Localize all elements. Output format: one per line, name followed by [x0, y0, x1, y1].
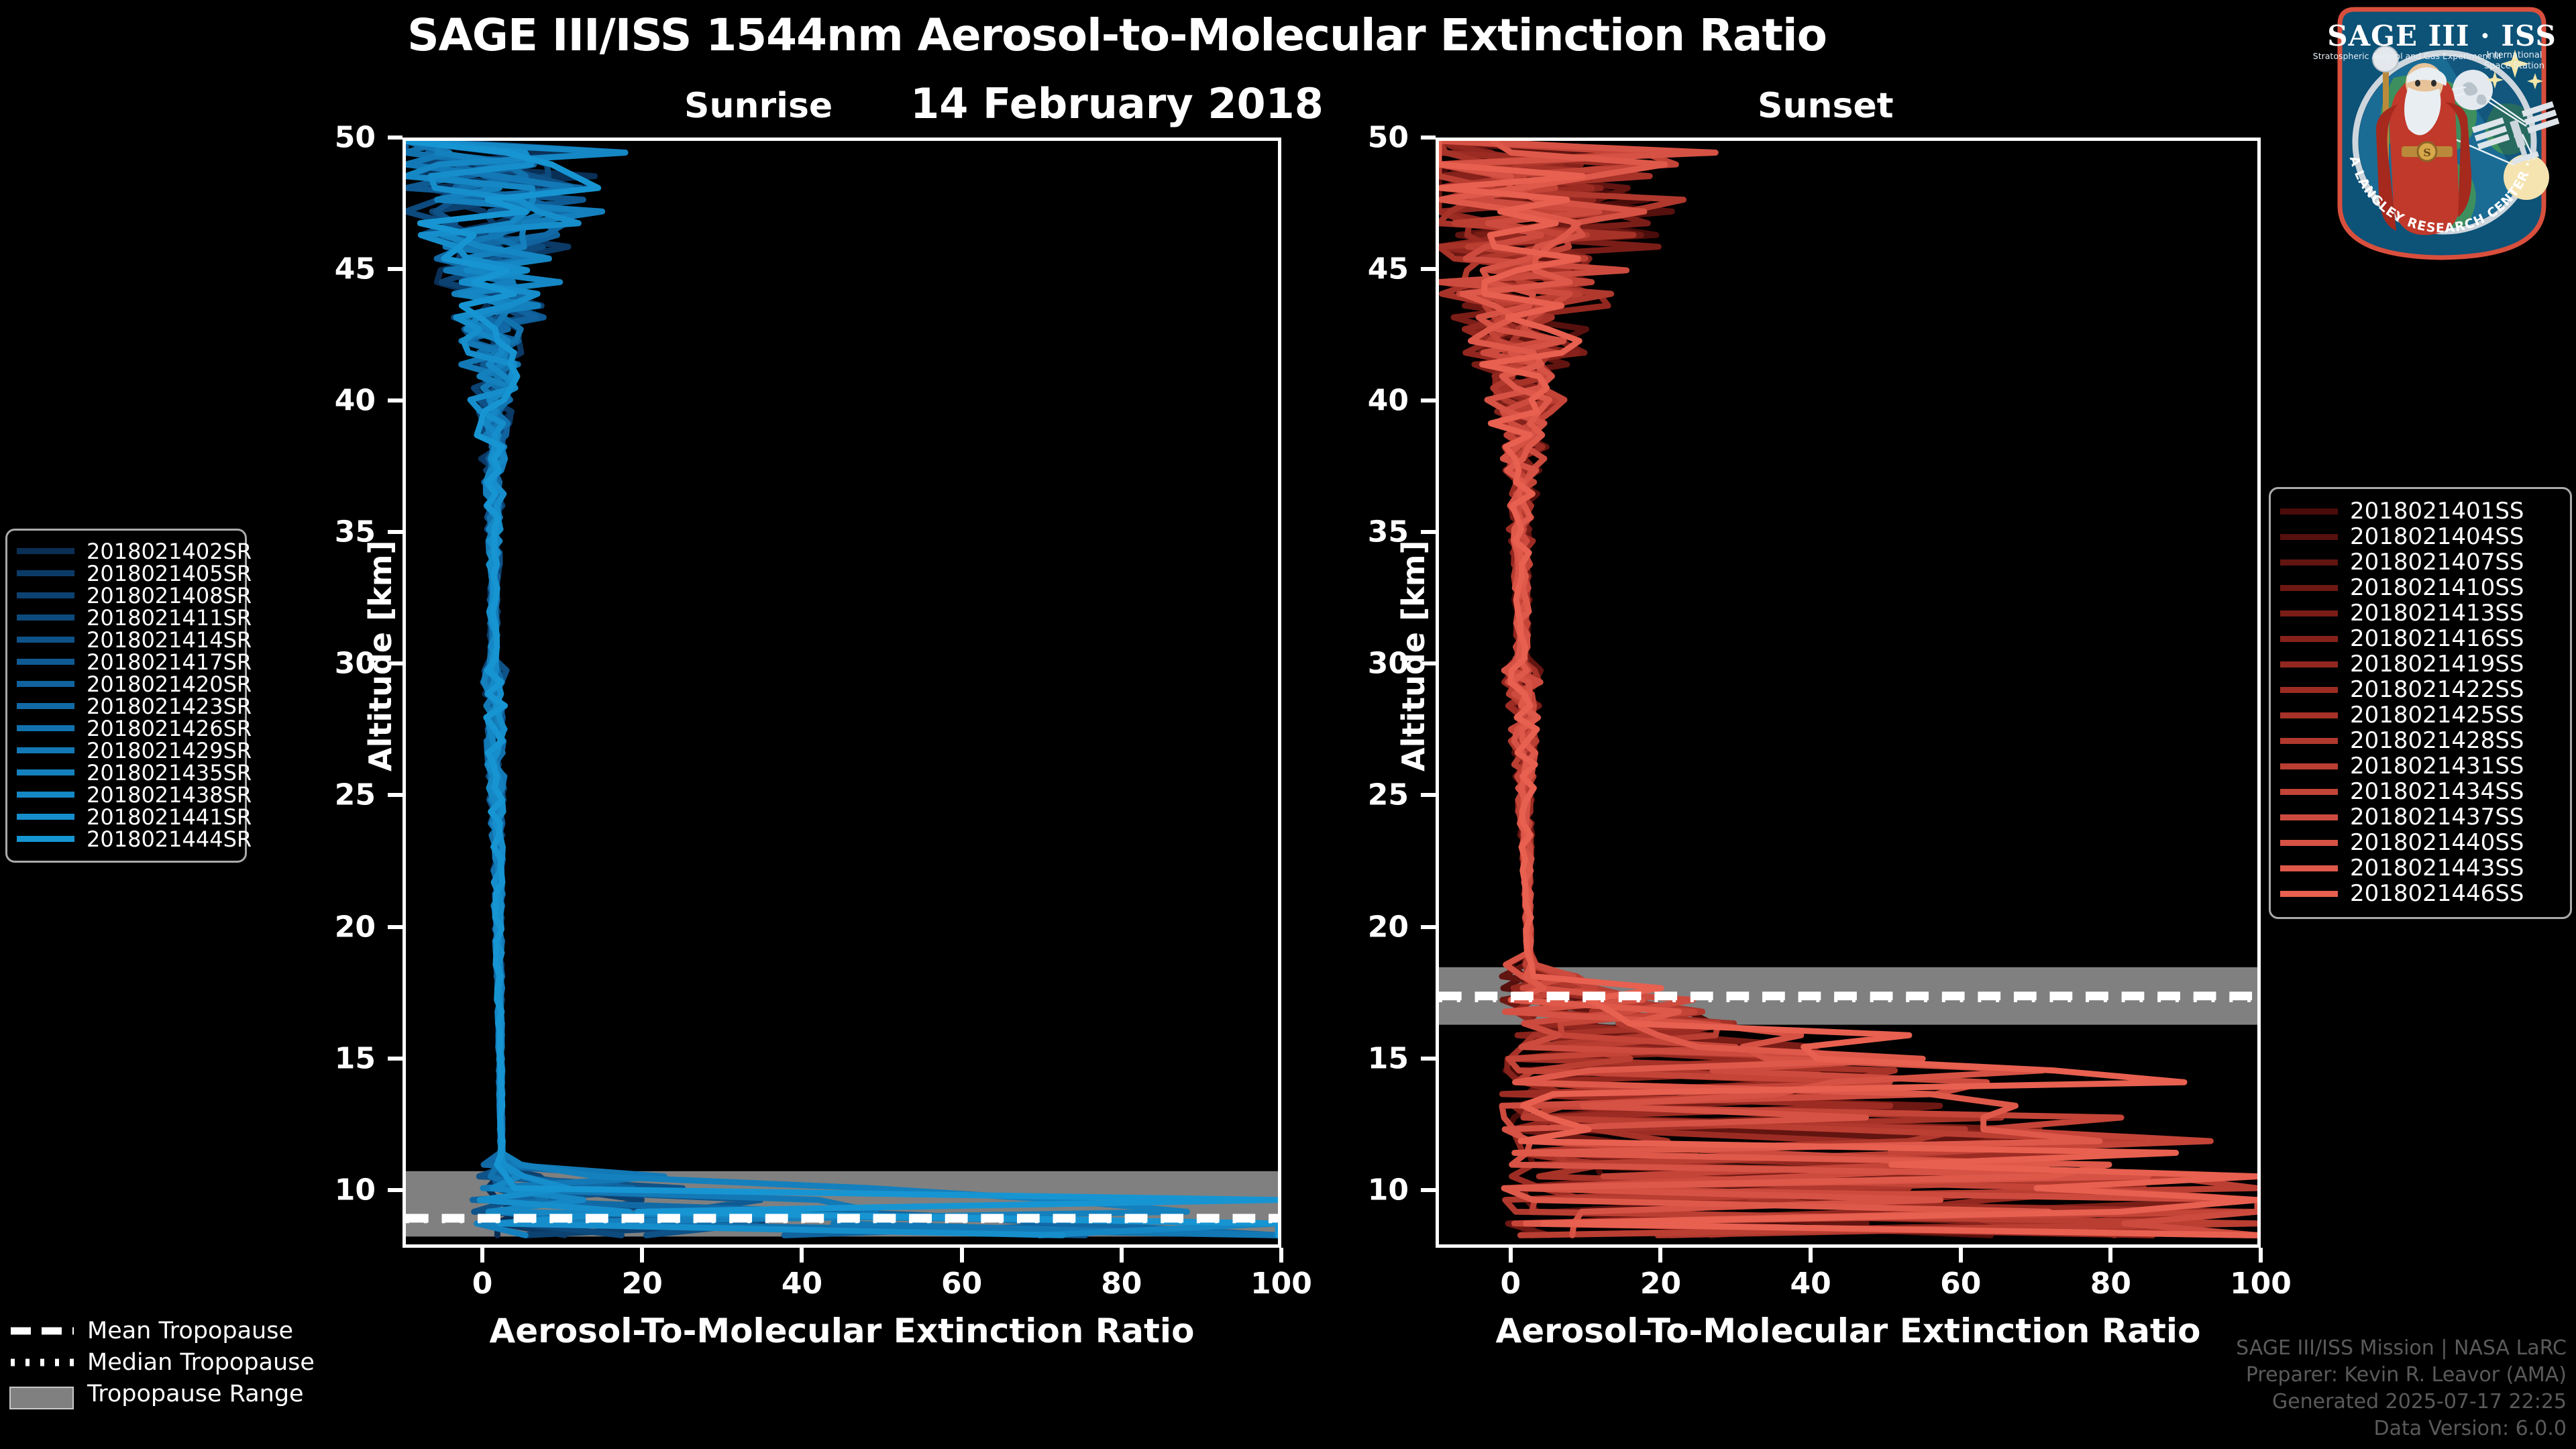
- legend-item-2018021402sr[interactable]: 2018021402SR: [17, 540, 234, 562]
- x-tick-label-sunset-80: 80: [2057, 1267, 2164, 1301]
- x-tick-label-sunrise-80: 80: [1068, 1267, 1175, 1301]
- legend-item-2018021401ss[interactable]: 2018021401SS: [2280, 498, 2559, 524]
- legend-color-swatch: [2280, 610, 2338, 616]
- y-tick-label-sunrise-35: 35: [295, 515, 376, 549]
- legend-color-swatch: [2280, 508, 2338, 515]
- x-tick-mark: [1279, 1248, 1283, 1263]
- patch-subtitle-left: Stratospheric Aerosol and Gas Experiment…: [2313, 51, 2501, 61]
- legend-color-swatch: [2280, 891, 2338, 897]
- legend-color-swatch: [17, 747, 74, 753]
- y-tick-label-sunset-20: 20: [1328, 910, 1409, 944]
- y-tick-mark: [1421, 793, 1436, 797]
- legend-label: 2018021422SS: [2350, 676, 2524, 703]
- y-tick-label-sunrise-30: 30: [295, 647, 376, 681]
- legend-label: 2018021443SS: [2350, 855, 2524, 881]
- x-tick-mark: [960, 1248, 964, 1263]
- legend-color-swatch: [17, 548, 74, 554]
- x-tick-label-sunset-100: 100: [2207, 1267, 2314, 1301]
- y-tick-label-sunset-35: 35: [1328, 515, 1409, 549]
- y-tick-mark: [1421, 530, 1436, 534]
- legend-label-tropopause-range: Tropopause Range: [87, 1381, 304, 1407]
- y-tick-label-sunset-45: 45: [1328, 252, 1409, 286]
- x-tick-mark: [2108, 1248, 2112, 1263]
- legend-item-2018021435sr[interactable]: 2018021435SR: [17, 761, 234, 784]
- patch-subtitle-right-1: International: [2487, 50, 2542, 60]
- y-tick-label-sunrise-40: 40: [295, 384, 376, 418]
- x-tick-mark: [1120, 1248, 1124, 1263]
- x-tick-label-sunrise-20: 20: [588, 1267, 696, 1301]
- legend-sunrise: 2018021402SR2018021405SR2018021408SR2018…: [5, 529, 247, 863]
- page-title: SAGE III/ISS 1544nm Aerosol-to-Molecular…: [0, 9, 2234, 61]
- x-tick-mark: [640, 1248, 644, 1263]
- plot-area-sunset: [1436, 138, 2261, 1248]
- x-tick-label-sunset-60: 60: [1907, 1267, 2015, 1301]
- legend-color-swatch: [17, 725, 74, 731]
- legend-color-swatch: [17, 836, 74, 842]
- y-tick-mark: [1421, 661, 1436, 665]
- legend-color-swatch: [17, 814, 74, 820]
- legend-item-2018021416ss[interactable]: 2018021416SS: [2280, 626, 2559, 651]
- y-tick-label-sunset-15: 15: [1328, 1041, 1409, 1075]
- legend-label: 2018021413SS: [2350, 600, 2524, 627]
- legend-row-median-tropopause: Median Tropopause: [9, 1346, 318, 1378]
- legend-color-swatch: [2280, 789, 2338, 795]
- legend-label: 2018021419SS: [2350, 651, 2524, 678]
- legend-label: 2018021428SS: [2350, 727, 2524, 754]
- x-tick-label-sunrise-60: 60: [908, 1267, 1016, 1301]
- legend-color-swatch: [2280, 636, 2338, 642]
- y-tick-label-sunrise-15: 15: [295, 1041, 376, 1075]
- legend-color-swatch: [2280, 661, 2338, 667]
- legend-item-2018021414sr[interactable]: 2018021414SR: [17, 629, 234, 651]
- y-tick-mark: [388, 136, 402, 140]
- footer-credits: SAGE III/ISS Mission | NASA LaRC Prepare…: [2236, 1335, 2567, 1442]
- dotted-line-icon: [9, 1355, 75, 1370]
- y-tick-label-sunrise-45: 45: [295, 252, 376, 286]
- footer-data-version: Data Version: 6.0.0: [2236, 1415, 2567, 1442]
- y-tick-label-sunrise-10: 10: [295, 1173, 376, 1207]
- legend-item-2018021441sr[interactable]: 2018021441SR: [17, 806, 234, 828]
- x-tick-mark: [2259, 1248, 2263, 1263]
- sage-iii-iss-mission-patch: S SAGE III · ISS Stratospheric Aerosol a…: [2313, 4, 2571, 262]
- legend-label: 2018021416SS: [2350, 625, 2524, 652]
- y-tick-mark: [388, 267, 402, 271]
- profile-line-2018021435sr: [437, 141, 1187, 1235]
- legend-color-swatch: [2280, 712, 2338, 718]
- y-tick-mark: [1421, 267, 1436, 271]
- legend-sunset: 2018021401SS2018021404SS2018021407SS2018…: [2269, 487, 2572, 919]
- legend-color-swatch: [17, 792, 74, 798]
- y-tick-label-sunset-25: 25: [1328, 778, 1409, 812]
- legend-item-2018021437ss[interactable]: 2018021437SS: [2280, 804, 2559, 830]
- legend-tropopause: Mean Tropopause Median Tropopause Tropop…: [9, 1315, 318, 1409]
- y-tick-label-sunset-10: 10: [1328, 1173, 1409, 1207]
- legend-item-2018021446ss[interactable]: 2018021446SS: [2280, 881, 2559, 906]
- footer-generated: Generated 2025-07-17 22:25: [2236, 1389, 2567, 1415]
- legend-item-2018021410ss[interactable]: 2018021410SS: [2280, 575, 2559, 600]
- x-tick-label-sunset-40: 40: [1757, 1267, 1864, 1301]
- legend-label-mean-tropopause: Mean Tropopause: [87, 1318, 293, 1344]
- x-tick-label-sunset-0: 0: [1457, 1267, 1564, 1301]
- legend-label: 2018021437SS: [2350, 804, 2524, 830]
- legend-color-swatch: [17, 769, 74, 775]
- legend-color-swatch: [2280, 687, 2338, 693]
- legend-color-swatch: [17, 681, 74, 687]
- legend-color-swatch: [2280, 534, 2338, 540]
- legend-label: 2018021425SS: [2350, 702, 2524, 729]
- legend-color-swatch: [17, 703, 74, 709]
- y-tick-mark: [1421, 398, 1436, 402]
- patch-subtitle-right-2: Space Station: [2484, 61, 2544, 71]
- legend-row-mean-tropopause: Mean Tropopause: [9, 1315, 318, 1346]
- y-tick-mark: [388, 398, 402, 402]
- x-tick-mark: [1809, 1248, 1813, 1263]
- legend-item-2018021408sr[interactable]: 2018021408SR: [17, 584, 234, 606]
- y-tick-mark: [1421, 1188, 1436, 1192]
- legend-item-2018021428ss[interactable]: 2018021428SS: [2280, 728, 2559, 753]
- y-tick-label-sunrise-20: 20: [295, 910, 376, 944]
- y-tick-mark: [388, 1057, 402, 1061]
- legend-item-2018021431ss[interactable]: 2018021431SS: [2280, 753, 2559, 779]
- y-tick-label-sunset-30: 30: [1328, 647, 1409, 681]
- y-tick-label-sunrise-50: 50: [295, 121, 376, 155]
- x-tick-label-sunrise-40: 40: [748, 1267, 855, 1301]
- dashed-line-icon: [9, 1324, 75, 1338]
- x-tick-mark: [1959, 1248, 1963, 1263]
- legend-item-2018021429sr[interactable]: 2018021429SR: [17, 739, 234, 761]
- profile-canvas-sunrise: [406, 141, 1278, 1244]
- legend-label: 2018021444SR: [87, 826, 252, 852]
- legend-item-2018021423sr[interactable]: 2018021423SR: [17, 695, 234, 717]
- legend-item-2018021426sr[interactable]: 2018021426SR: [17, 717, 234, 739]
- x-tick-label-sunrise-100: 100: [1228, 1267, 1335, 1301]
- legend-item-2018021444sr[interactable]: 2018021444SR: [17, 828, 234, 850]
- legend-color-swatch: [2280, 585, 2338, 591]
- panel-label-sunrise: Sunrise: [684, 86, 833, 126]
- svg-text:SAGE III · ISS: SAGE III · ISS: [2327, 19, 2557, 52]
- legend-item-2018021404ss[interactable]: 2018021404SS: [2280, 524, 2559, 549]
- legend-label: 2018021401SS: [2350, 498, 2524, 525]
- y-tick-label-sunset-50: 50: [1328, 121, 1409, 155]
- x-tick-label-sunrise-0: 0: [429, 1267, 536, 1301]
- legend-label: 2018021434SS: [2350, 778, 2524, 805]
- y-tick-mark: [388, 793, 402, 797]
- legend-color-swatch: [2280, 865, 2338, 871]
- legend-item-2018021419ss[interactable]: 2018021419SS: [2280, 651, 2559, 677]
- legend-item-2018021413ss[interactable]: 2018021413SS: [2280, 600, 2559, 626]
- x-tick-mark: [800, 1248, 804, 1263]
- legend-item-2018021411sr[interactable]: 2018021411SR: [17, 606, 234, 629]
- legend-color-swatch: [2280, 763, 2338, 769]
- legend-color-swatch: [2280, 559, 2338, 566]
- legend-color-swatch: [17, 570, 74, 576]
- legend-item-2018021434ss[interactable]: 2018021434SS: [2280, 779, 2559, 804]
- plot-area-sunrise: [402, 138, 1281, 1248]
- x-tick-mark: [480, 1248, 484, 1263]
- legend-item-2018021417sr[interactable]: 2018021417SR: [17, 651, 234, 673]
- legend-item-2018021422ss[interactable]: 2018021422SS: [2280, 677, 2559, 702]
- y-tick-mark: [388, 530, 402, 534]
- legend-label: 2018021407SS: [2350, 549, 2524, 576]
- y-tick-label-sunrise-25: 25: [295, 778, 376, 812]
- footer-mission: SAGE III/ISS Mission | NASA LaRC: [2236, 1335, 2567, 1362]
- legend-label: 2018021440SS: [2350, 829, 2524, 856]
- profile-line-2018021441sr: [421, 141, 1063, 1235]
- legend-color-swatch: [17, 592, 74, 598]
- y-tick-mark: [1421, 1057, 1436, 1061]
- panel-label-sunset: Sunset: [1758, 86, 1894, 126]
- legend-item-2018021438sr[interactable]: 2018021438SR: [17, 784, 234, 806]
- y-tick-mark: [388, 925, 402, 929]
- legend-item-2018021407ss[interactable]: 2018021407SS: [2280, 549, 2559, 575]
- x-axis-label-sunset: Aerosol-To-Molecular Extinction Ratio: [1436, 1311, 2261, 1350]
- legend-item-2018021425ss[interactable]: 2018021425SS: [2280, 702, 2559, 728]
- footer-preparer: Preparer: Kevin R. Leavor (AMA): [2236, 1362, 2567, 1389]
- legend-label: 2018021431SS: [2350, 753, 2524, 780]
- x-axis-label-sunrise: Aerosol-To-Molecular Extinction Ratio: [402, 1311, 1281, 1350]
- profile-canvas-sunset: [1439, 141, 2257, 1244]
- y-tick-mark: [388, 661, 402, 665]
- legend-item-2018021440ss[interactable]: 2018021440SS: [2280, 830, 2559, 855]
- legend-item-2018021443ss[interactable]: 2018021443SS: [2280, 855, 2559, 881]
- legend-color-swatch: [17, 659, 74, 665]
- legend-label-median-tropopause: Median Tropopause: [87, 1349, 315, 1376]
- legend-item-2018021405sr[interactable]: 2018021405SR: [17, 562, 234, 584]
- legend-color-swatch: [2280, 840, 2338, 846]
- x-tick-label-sunset-20: 20: [1607, 1267, 1714, 1301]
- legend-row-tropopause-range: Tropopause Range: [9, 1378, 318, 1409]
- filled-band-icon: [9, 1387, 75, 1401]
- y-tick-mark: [388, 1188, 402, 1192]
- profile-line-2018021411sr: [406, 141, 712, 1235]
- legend-label: 2018021410SS: [2350, 574, 2524, 601]
- legend-label: 2018021404SS: [2350, 523, 2524, 550]
- x-tick-mark: [1509, 1248, 1513, 1263]
- legend-color-swatch: [2280, 738, 2338, 744]
- x-tick-mark: [1658, 1248, 1662, 1263]
- y-tick-label-sunset-40: 40: [1328, 384, 1409, 418]
- svg-text:S: S: [2423, 146, 2431, 159]
- legend-color-swatch: [17, 637, 74, 643]
- legend-label: 2018021446SS: [2350, 880, 2524, 907]
- legend-item-2018021420sr[interactable]: 2018021420SR: [17, 673, 234, 695]
- legend-color-swatch: [2280, 814, 2338, 820]
- legend-color-swatch: [17, 614, 74, 621]
- y-tick-mark: [1421, 925, 1436, 929]
- y-tick-mark: [1421, 136, 1436, 140]
